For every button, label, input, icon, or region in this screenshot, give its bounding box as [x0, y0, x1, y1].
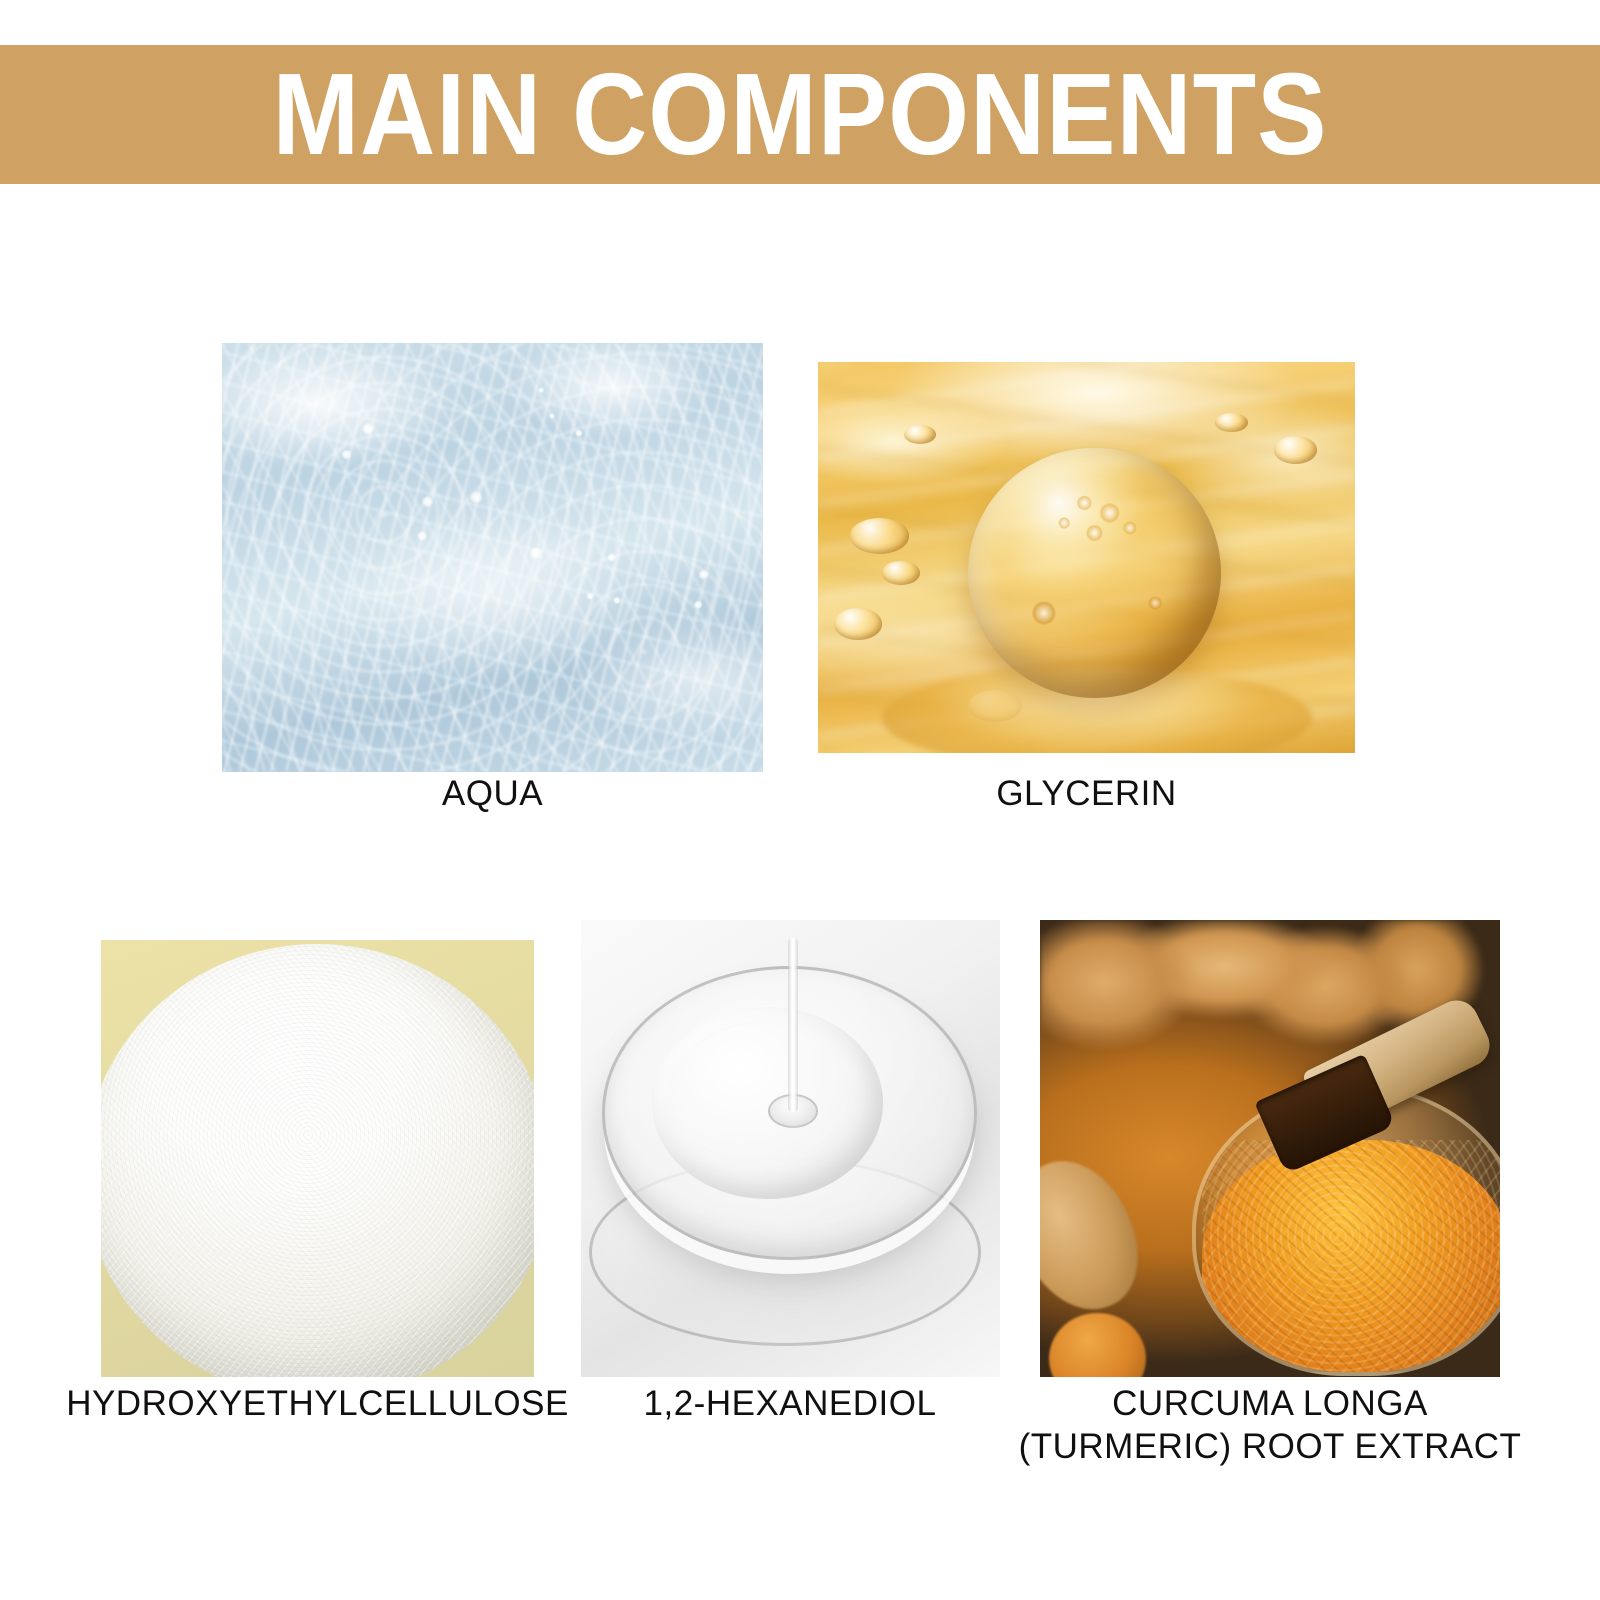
- page-title: MAIN COMPONENTS: [273, 56, 1328, 172]
- glycerin-sphere: [968, 448, 1220, 698]
- component-image-hydroxyethylcellulose: [101, 940, 534, 1377]
- component-image-hexanediol: [581, 920, 1000, 1377]
- liquid-stream: [788, 938, 798, 1112]
- oil-bubble: [1215, 413, 1247, 433]
- clear-liquid-dish-photo: [581, 920, 1000, 1377]
- component-image-glycerin: [818, 362, 1355, 753]
- sphere-inner-bubbles: [968, 448, 1220, 698]
- component-image-aqua: [222, 343, 763, 772]
- component-label-aqua: AQUA: [222, 772, 763, 815]
- turmeric-powder: [1202, 1140, 1500, 1376]
- golden-droplet-photo: [818, 362, 1355, 753]
- oil-bubble: [1274, 436, 1317, 463]
- component-label-glycerin: GLYCERIN: [818, 772, 1355, 815]
- component-image-curcuma: [1040, 920, 1500, 1377]
- powder-mound: [101, 944, 534, 1377]
- turmeric-bowl-photo: [1040, 920, 1500, 1377]
- turmeric-root: [1049, 1313, 1146, 1377]
- header-banner: MAIN COMPONENTS: [0, 45, 1600, 184]
- oil-bubble: [904, 425, 936, 445]
- oil-bubble: [882, 561, 920, 584]
- component-label-curcuma: CURCUMA LONGA (TURMERIC) ROOT EXTRACT: [1000, 1382, 1540, 1468]
- turmeric-root: [1040, 1143, 1157, 1328]
- oil-bubble: [834, 608, 882, 639]
- component-label-hexanediol: 1,2-HEXANEDIOL: [575, 1382, 1005, 1425]
- liquid-blob: [652, 1007, 882, 1199]
- component-label-hydroxyethylcellulose: HYDROXYETHYLCELLULOSE: [40, 1382, 595, 1425]
- oil-bubble: [850, 518, 909, 553]
- water-ripples-photo: [222, 343, 763, 772]
- white-powder-photo: [101, 940, 534, 1377]
